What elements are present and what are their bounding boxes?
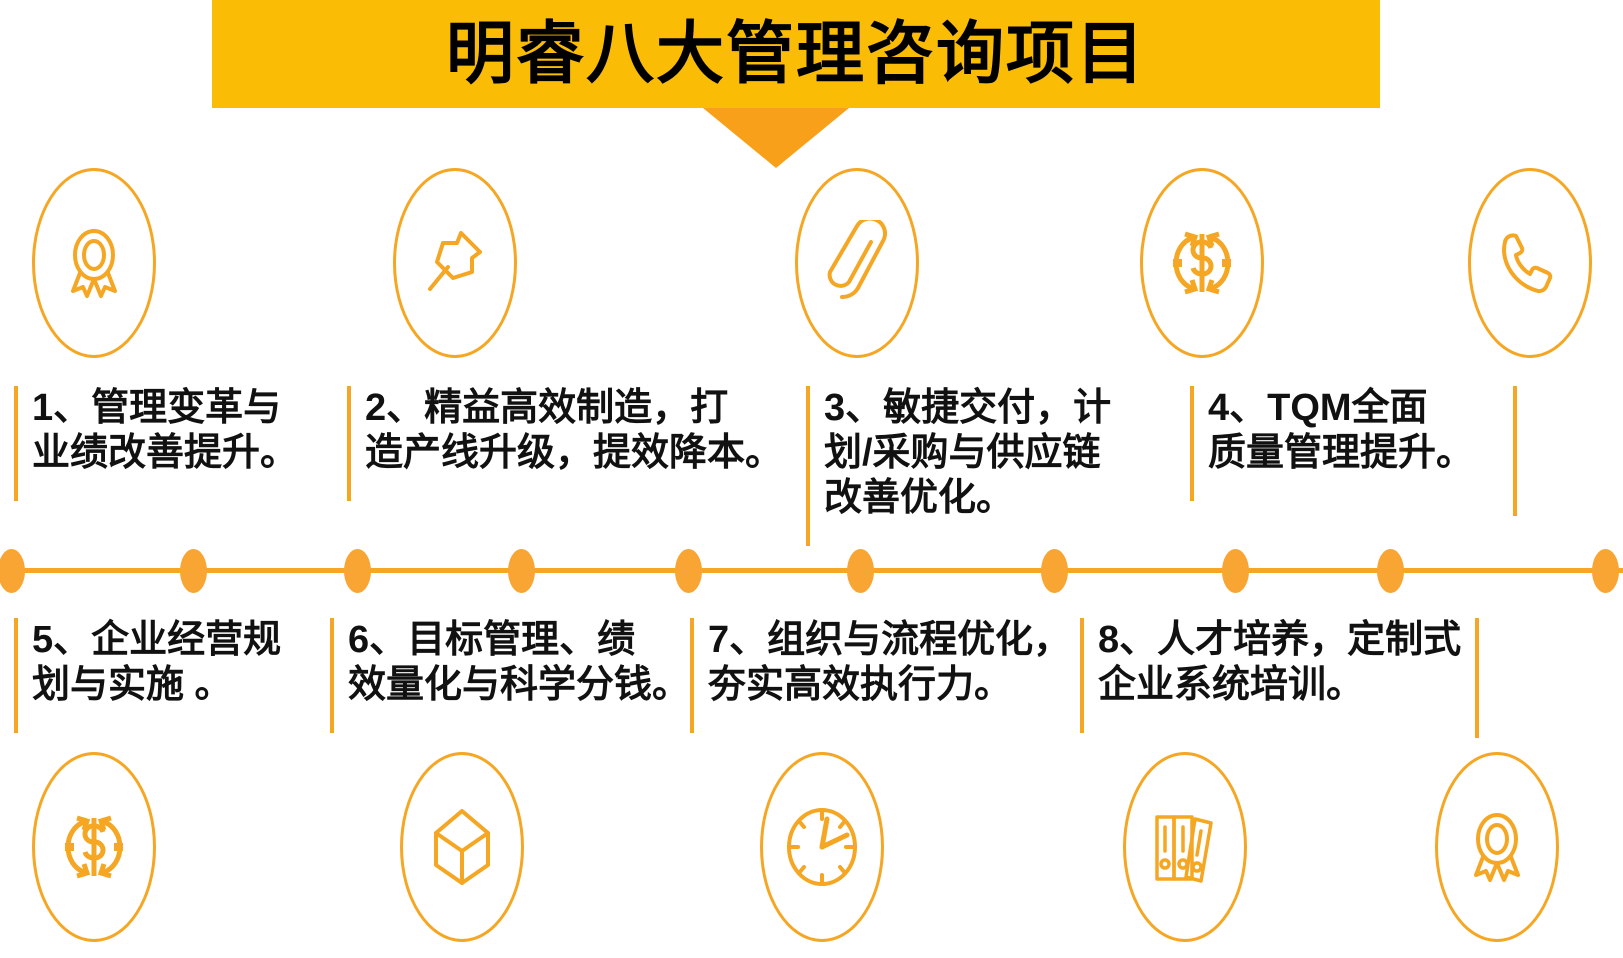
page-title: 明睿八大管理咨询项目 bbox=[446, 20, 1146, 88]
icon-oval-7 bbox=[400, 752, 524, 942]
icon-oval-5 bbox=[1468, 168, 1592, 358]
clock-icon bbox=[783, 805, 861, 889]
timeline-dot bbox=[508, 549, 535, 593]
icon-oval-6 bbox=[32, 752, 156, 942]
binders-icon bbox=[1151, 809, 1219, 885]
item-text-2: 2、精益高效制造，打 造产线升级，提效降本。 bbox=[347, 386, 797, 501]
divider-right-top bbox=[1513, 386, 1517, 516]
timeline-dot bbox=[1377, 549, 1404, 593]
timeline-dot bbox=[847, 549, 874, 593]
paperclip-icon bbox=[827, 220, 887, 306]
icon-oval-4 bbox=[1140, 168, 1264, 358]
item-label-5: 5、企业经营规 划与实施 。 bbox=[32, 618, 324, 708]
item-text-6: 6、目标管理、绩 效量化与科学分钱。 bbox=[330, 618, 690, 733]
icon-oval-9 bbox=[1123, 752, 1247, 942]
item-label-4: 4、TQM全面 质量管理提升。 bbox=[1208, 386, 1510, 476]
item-label-7: 7、组织与流程优化， 夯实高效执行力。 bbox=[708, 618, 1072, 708]
icon-oval-2 bbox=[393, 168, 517, 358]
item-text-1: 1、管理变革与 业绩改善提升。 bbox=[14, 386, 314, 501]
item-label-1: 1、管理变革与 业绩改善提升。 bbox=[32, 386, 314, 476]
award-ribbon-icon bbox=[1465, 811, 1529, 883]
item-text-7: 7、组织与流程优化， 夯实高效执行力。 bbox=[690, 618, 1072, 733]
dollar-coin-icon bbox=[1167, 224, 1237, 302]
banner-down-arrow bbox=[703, 108, 849, 168]
item-text-8: 8、人才培养，定制式 企业系统培训。 bbox=[1080, 618, 1480, 733]
phone-handset-icon bbox=[1499, 229, 1561, 297]
icon-oval-8 bbox=[760, 752, 884, 942]
icon-oval-10 bbox=[1435, 752, 1559, 942]
infographic-slide: 明睿八大管理咨询项目 bbox=[0, 0, 1623, 958]
timeline-dot bbox=[1592, 549, 1619, 593]
item-text-5: 5、企业经营规 划与实施 。 bbox=[14, 618, 324, 733]
item-label-2: 2、精益高效制造，打 造产线升级，提效降本。 bbox=[365, 386, 797, 476]
award-ribbon-icon bbox=[62, 227, 126, 299]
pushpin-icon bbox=[422, 227, 488, 299]
item-label-6: 6、目标管理、绩 效量化与科学分钱。 bbox=[348, 618, 690, 708]
timeline-dot bbox=[0, 549, 25, 593]
icon-oval-1 bbox=[32, 168, 156, 358]
item-label-3: 3、敏捷交付，计 划/采购与供应链 改善优化。 bbox=[824, 386, 1196, 520]
timeline-dot bbox=[675, 549, 702, 593]
timeline-dot bbox=[1041, 549, 1068, 593]
item-text-3: 3、敏捷交付，计 划/采购与供应链 改善优化。 bbox=[806, 386, 1196, 546]
dollar-coin-icon bbox=[59, 808, 129, 886]
timeline-dot bbox=[1222, 549, 1249, 593]
divider-right-bottom bbox=[1475, 618, 1479, 738]
item-label-8: 8、人才培养，定制式 企业系统培训。 bbox=[1098, 618, 1480, 708]
title-banner: 明睿八大管理咨询项目 bbox=[212, 0, 1380, 108]
icon-oval-3 bbox=[795, 168, 919, 358]
timeline-dot bbox=[180, 549, 207, 593]
timeline-dot bbox=[344, 549, 371, 593]
item-text-4: 4、TQM全面 质量管理提升。 bbox=[1190, 386, 1510, 501]
cube-box-icon bbox=[431, 807, 493, 887]
